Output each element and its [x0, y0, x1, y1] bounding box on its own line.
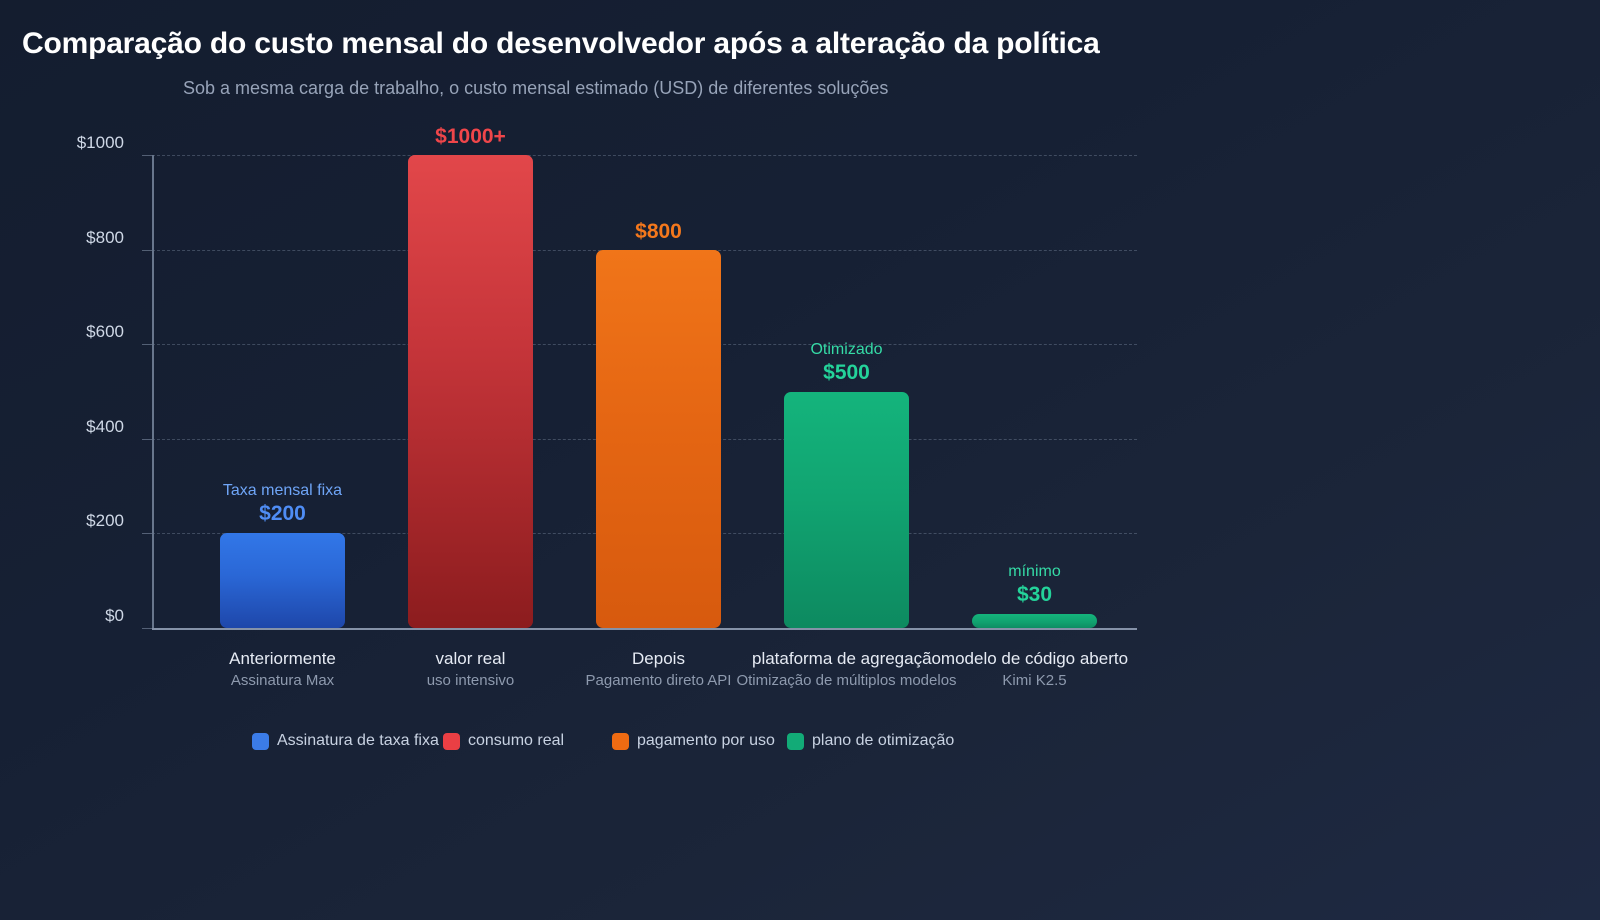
y-tick-label: $0 [0, 606, 124, 626]
x-axis-line [152, 628, 1137, 630]
bar-value-label-1: Taxa mensal fixa$200 [133, 481, 433, 526]
legend-swatch-4 [787, 733, 804, 750]
legend-swatch-2 [443, 733, 460, 750]
x-category-5: modelo de código abertoKimi K2.5 [835, 648, 1235, 691]
chart-legend: Assinatura de taxa fixaconsumo realpagam… [0, 731, 1600, 753]
y-tick-mark [142, 439, 152, 440]
x-category-main-5: modelo de código aberto [835, 648, 1235, 670]
bar-amount-2: $1000+ [321, 124, 621, 149]
bar-amount-1: $200 [133, 501, 433, 526]
bar-value-label-3: $800 [509, 219, 809, 244]
legend-label-1: Assinatura de taxa fixa [277, 731, 439, 751]
y-tick-label: $400 [0, 417, 124, 437]
bar-value-label-4: Otimizado$500 [697, 340, 997, 385]
bar-note-1: Taxa mensal fixa [133, 481, 433, 501]
bar-3[interactable] [596, 250, 721, 628]
legend-label-2: consumo real [468, 731, 564, 751]
x-category-sub-5: Kimi K2.5 [835, 670, 1235, 691]
y-tick-mark [142, 344, 152, 345]
bar-amount-5: $30 [885, 582, 1185, 607]
page-subtitle: Sob a mesma carga de trabalho, o custo m… [183, 78, 888, 99]
y-tick-label: $600 [0, 322, 124, 342]
y-axis-line [152, 155, 154, 629]
legend-swatch-3 [612, 733, 629, 750]
bar-note-4: Otimizado [697, 340, 997, 360]
bar-5[interactable] [972, 614, 1097, 628]
legend-label-3: pagamento por uso [637, 731, 775, 751]
y-tick-mark [142, 628, 152, 629]
legend-swatch-1 [252, 733, 269, 750]
bar-amount-4: $500 [697, 360, 997, 385]
page-title: Comparação do custo mensal do desenvolve… [22, 27, 1100, 61]
gridline [152, 155, 1137, 156]
bar-note-5: mínimo [885, 562, 1185, 582]
y-tick-mark [142, 533, 152, 534]
bar-1[interactable] [220, 533, 345, 628]
y-tick-label: $200 [0, 511, 124, 531]
y-tick-mark [142, 155, 152, 156]
y-tick-mark [142, 250, 152, 251]
chart-canvas: Comparação do custo mensal do desenvolve… [0, 0, 1600, 920]
legend-label-4: plano de otimização [812, 731, 954, 751]
bar-amount-3: $800 [509, 219, 809, 244]
y-tick-label: $1000 [0, 133, 124, 153]
y-tick-label: $800 [0, 228, 124, 248]
bar-value-label-2: $1000+ [321, 124, 621, 149]
bar-value-label-5: mínimo$30 [885, 562, 1185, 607]
